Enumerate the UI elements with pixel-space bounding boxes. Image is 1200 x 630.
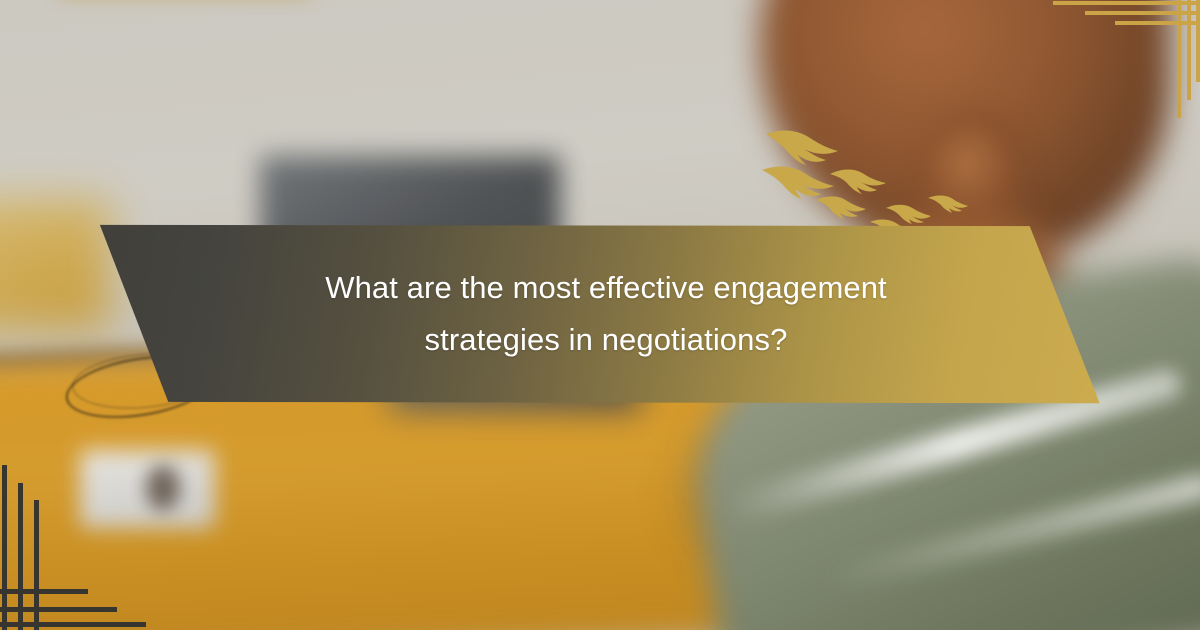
- deco-line-h2: [1085, 11, 1200, 15]
- deco-line-v2: [18, 483, 23, 630]
- deco-line-v3: [34, 500, 39, 630]
- question-card-canvas: What are the most effective engagement s…: [0, 0, 1200, 630]
- deco-line-v3: [1196, 0, 1200, 82]
- deco-line-v1: [2, 465, 7, 630]
- deco-line-v1: [1177, 0, 1181, 118]
- art-deco-corner-top-right: [1040, 0, 1200, 130]
- deco-line-v2: [1187, 0, 1191, 100]
- question-banner-text: What are the most effective engagement s…: [86, 218, 1114, 410]
- art-deco-corner-bottom-left: [0, 455, 160, 630]
- deco-line-h1: [0, 589, 88, 594]
- question-line-2: strategies in negotiations?: [425, 315, 788, 365]
- question-line-1: What are the most effective engagement: [325, 263, 887, 313]
